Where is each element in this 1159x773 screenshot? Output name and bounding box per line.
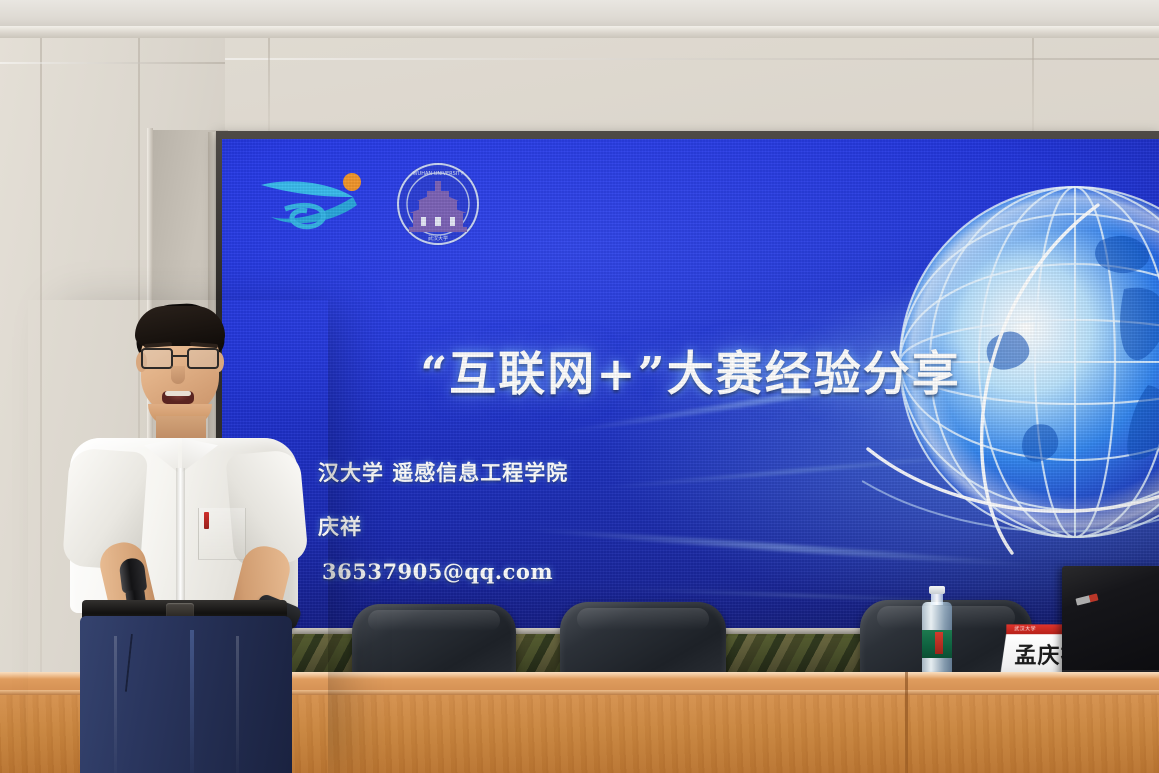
nose [171,366,185,384]
thinkpad-logo-icon [1075,593,1098,605]
bottle-label-accent [935,632,943,654]
led-pixel-grid [222,139,1159,631]
chair-middle[interactable] [560,602,726,680]
trouser-fold [114,636,117,773]
presentation-photo-scene: WUHAN UNIVERSITY 武汉大学 “互联网+”大赛经验分享 汉大学 遥… [0,0,1159,773]
lens-left [141,348,173,369]
trouser-fold [236,636,239,773]
name-card-banner-text: 武汉大学 [1014,625,1036,632]
lens-right [187,348,219,369]
chair-highlight [368,610,499,631]
led-screen[interactable]: WUHAN UNIVERSITY 武汉大学 “互联网+”大赛经验分享 汉大学 遥… [222,139,1159,631]
wall-seam [268,38,270,133]
teeth [165,391,191,396]
shirt-placket [176,468,185,616]
water-bottle[interactable] [920,586,954,678]
chair-highlight [577,608,710,630]
thinkpad-laptop[interactable] [1062,566,1159,678]
shirt-pocket-tag [204,512,209,529]
table-panel-seam [905,672,908,773]
microphone-head [118,557,147,594]
hair [135,306,225,346]
trouser-crease [190,630,194,773]
wall-panel-line [0,62,225,64]
wall-seam [1032,38,1034,133]
presenter [40,300,330,773]
glasses-bridge [173,355,187,357]
bottle-cap [929,586,945,594]
chair-left[interactable] [352,604,516,680]
trouser-pocket [89,630,133,692]
wall-panel-line [225,58,1159,60]
